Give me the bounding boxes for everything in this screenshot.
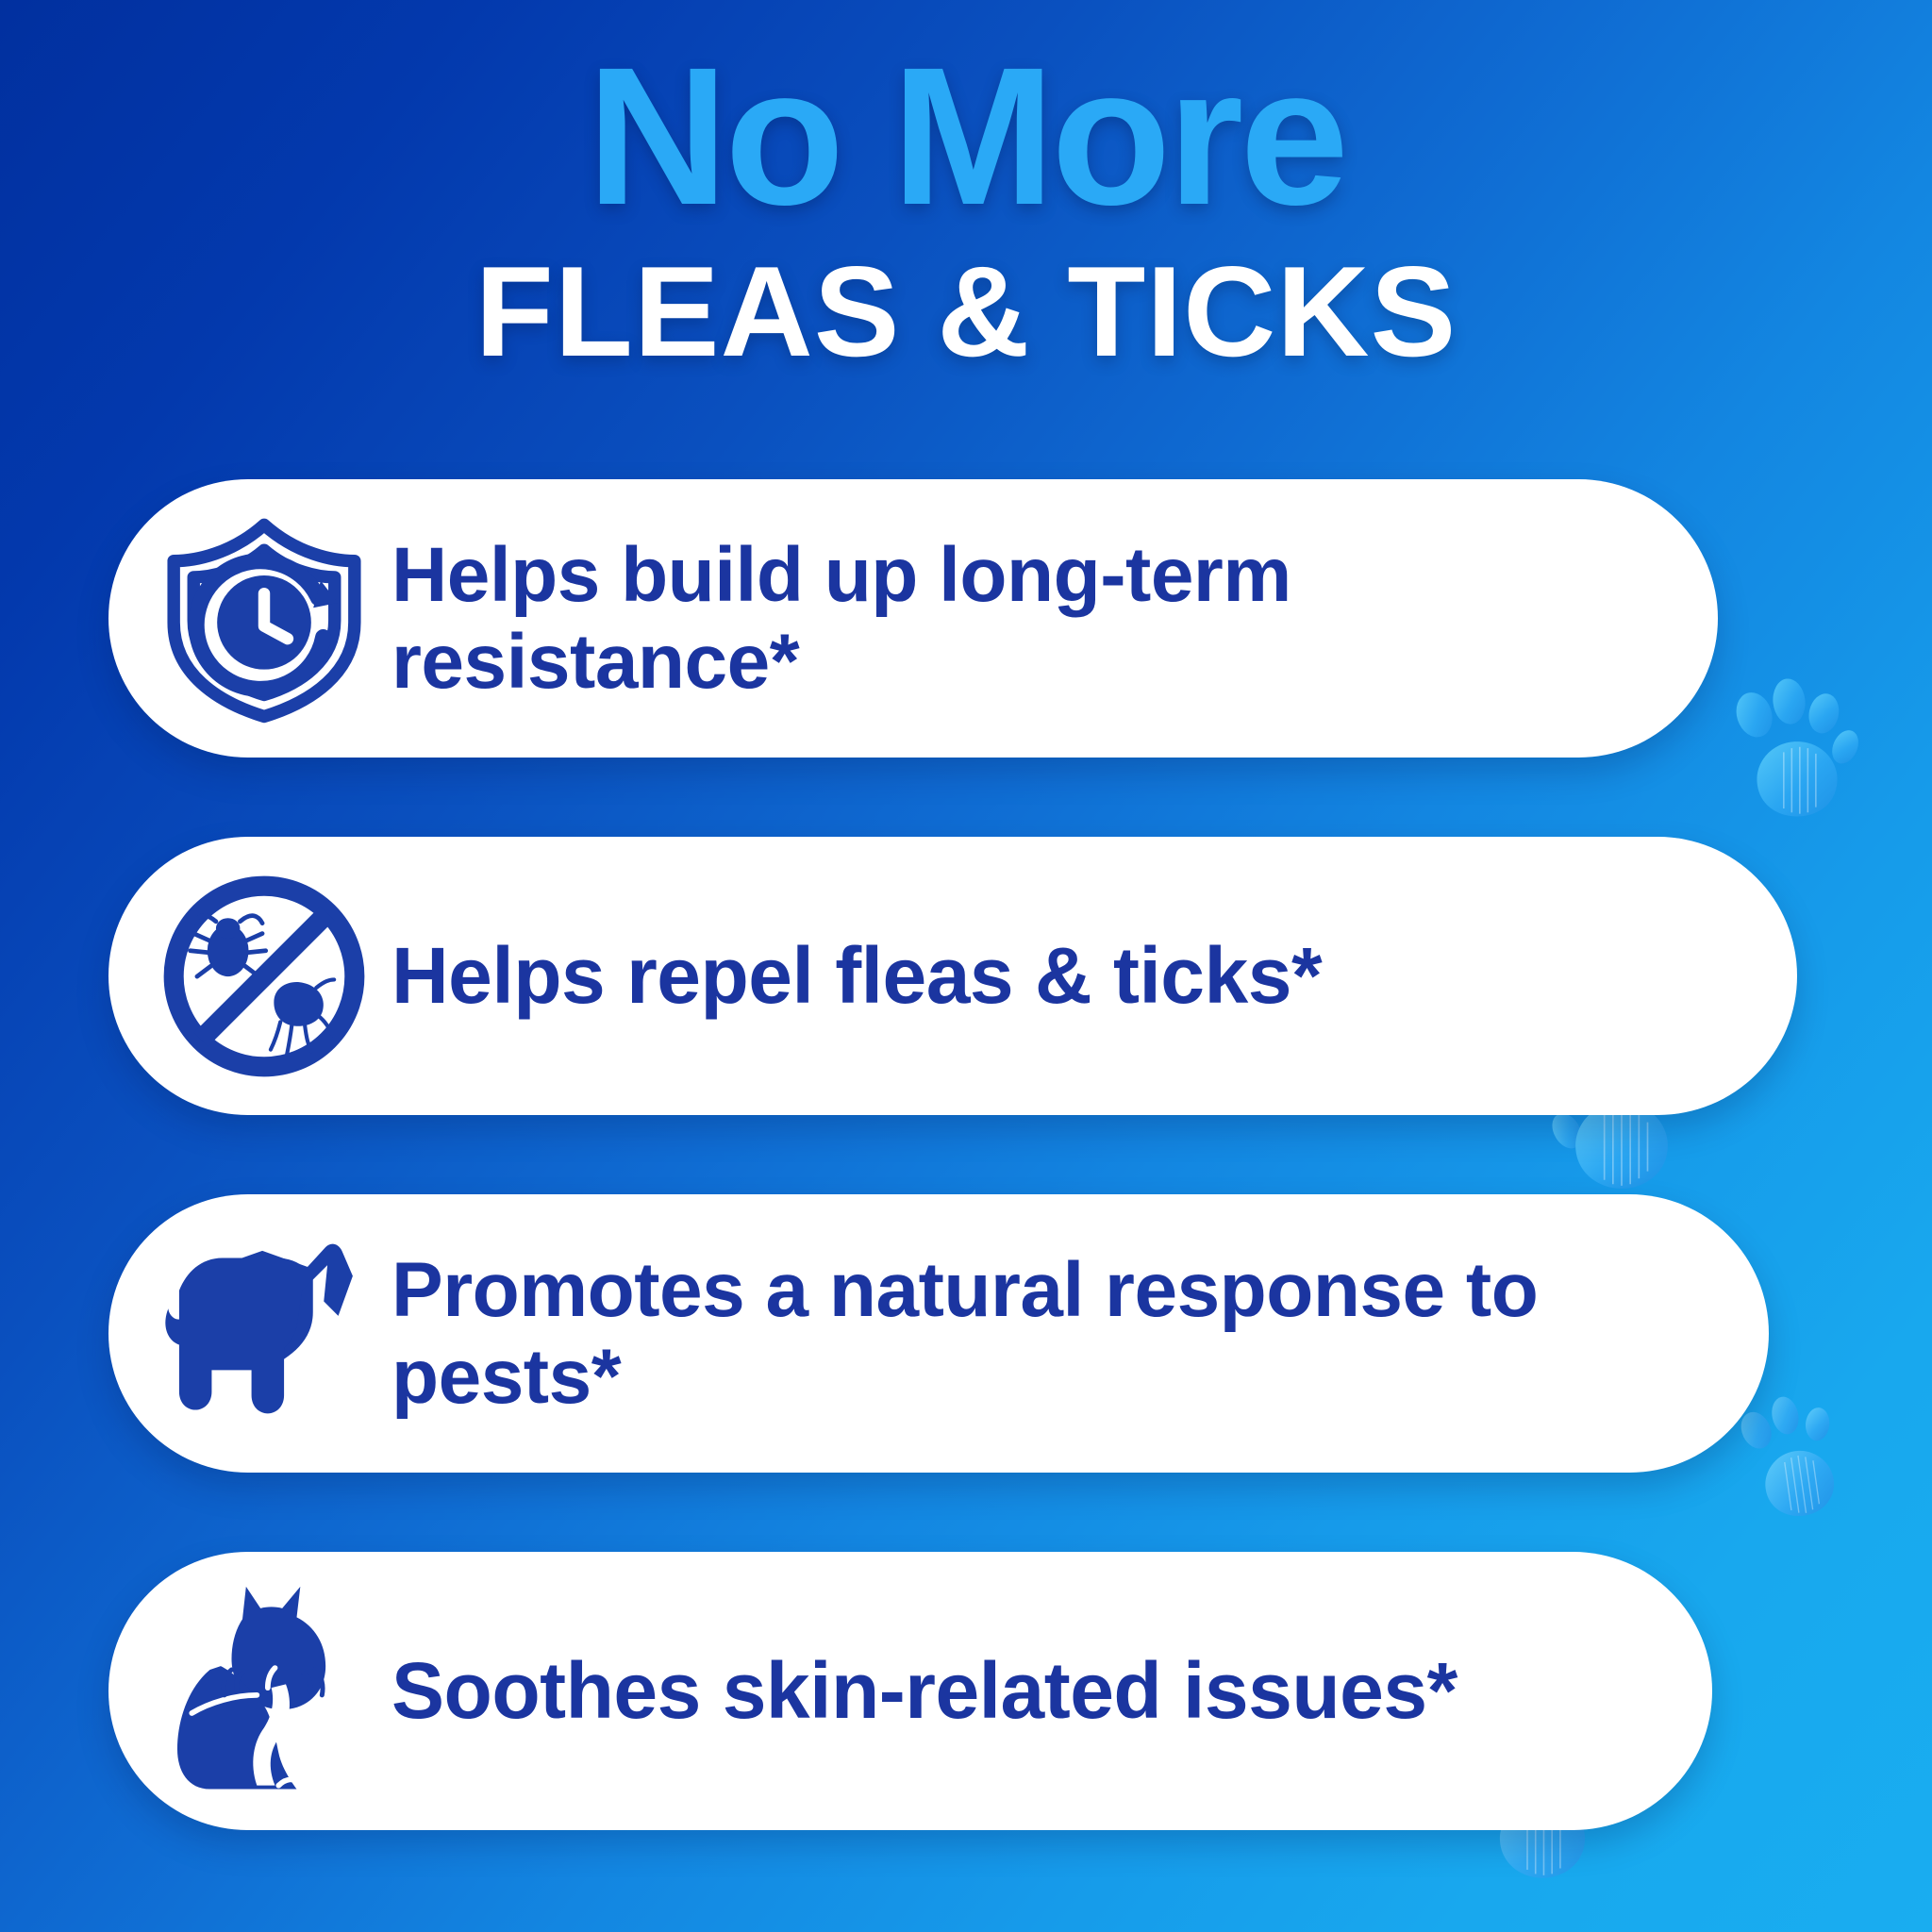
benefit-text: Promotes a natural response to pests* bbox=[391, 1247, 1769, 1421]
benefit-text: Soothes skin-related issues* bbox=[391, 1646, 1712, 1735]
headline-no-more: No More bbox=[0, 45, 1932, 230]
promo-poster: No More FLEAS & TICKS bbox=[0, 0, 1932, 1932]
benefit-card-list: Helps build up long-term resistance* bbox=[0, 479, 1932, 1830]
benefit-card[interactable]: Promotes a natural response to pests* bbox=[108, 1194, 1769, 1473]
benefit-card[interactable]: Helps repel fleas & ticks* bbox=[108, 837, 1797, 1115]
no-fleas-ticks-icon bbox=[137, 868, 391, 1085]
benefit-card[interactable]: Soothes skin-related issues* bbox=[108, 1552, 1712, 1830]
cat-scratching-icon bbox=[137, 1583, 391, 1800]
shield-clock-icon bbox=[137, 510, 391, 727]
poster-header: No More FLEAS & TICKS bbox=[0, 0, 1932, 375]
benefit-text: Helps build up long-term resistance* bbox=[391, 532, 1718, 706]
subheadline-fleas-and-ticks: FLEAS & TICKS bbox=[0, 247, 1932, 375]
benefit-card[interactable]: Helps build up long-term resistance* bbox=[108, 479, 1718, 758]
benefit-text: Helps repel fleas & ticks* bbox=[391, 931, 1797, 1020]
cat-shield-heart-icon bbox=[137, 1225, 391, 1442]
